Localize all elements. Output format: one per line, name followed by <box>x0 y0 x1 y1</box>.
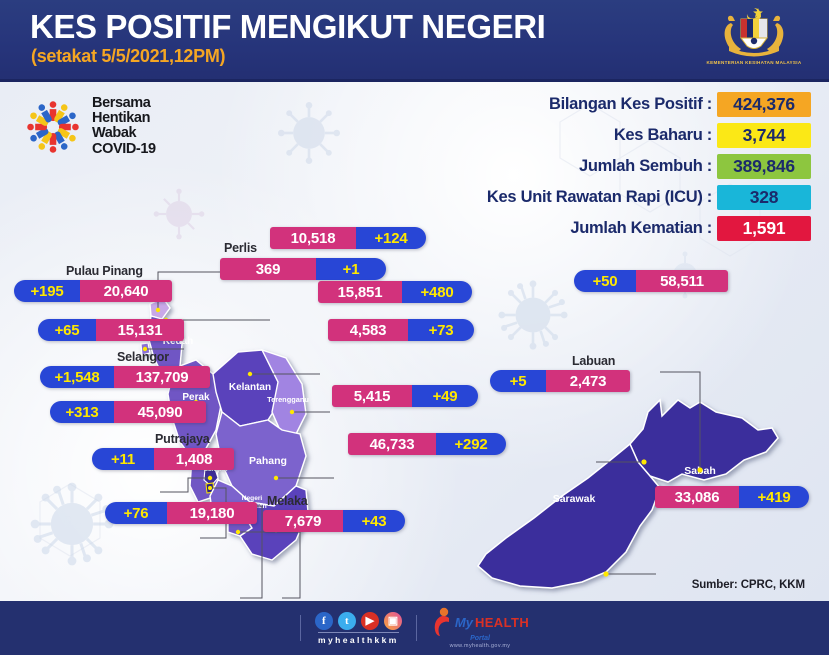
pill-delta-putrajaya: +11 <box>92 448 154 470</box>
pill-delta-pahang: +49 <box>412 385 478 407</box>
pill-pahang[interactable]: 5,415 +49 <box>332 385 478 407</box>
callout-name-perlis: Perlis <box>224 241 257 255</box>
infographic-canvas: KES POSITIF MENGIKUT NEGERI (setakat 5/5… <box>0 0 829 655</box>
callout-name-pulau-pinang: Pulau Pinang <box>66 264 143 278</box>
pill-delta-labuan: +5 <box>490 370 546 392</box>
pill-pulau-pinang[interactable]: +195 20,640 <box>14 280 172 302</box>
kkm-crest: KEMENTERIAN KESIHATAN MALAYSIA <box>701 5 807 79</box>
dot-putrajaya <box>208 486 212 490</box>
facebook-icon[interactable]: f <box>315 612 333 630</box>
dot-melaka <box>236 530 240 534</box>
myhealth-url: www.myhealth.gov.my <box>450 643 511 649</box>
pill-negeri-sembilan[interactable]: +76 19,180 <box>105 502 257 524</box>
pill-delta-negeri-sembilan: +76 <box>105 502 167 524</box>
callout-name-selangor: Selangor <box>117 350 169 364</box>
dot-kelantan <box>248 372 252 376</box>
infographic-body: Bersama Hentikan Wabak COVID-19 Bilangan… <box>0 82 829 601</box>
pill-count-negeri-sembilan: 19,180 <box>167 502 257 524</box>
pill-putrajaya[interactable]: +11 1,408 <box>92 448 234 470</box>
youtube-icon[interactable]: ▶ <box>361 612 379 630</box>
myhealth-health-text: HEALTH <box>475 615 529 630</box>
social-icons: f t ▶ ▣ <box>315 612 402 630</box>
map-label-pahang: Pahang <box>249 455 287 467</box>
dot-terengganu <box>290 410 294 414</box>
state-sarawak <box>478 444 660 588</box>
dot-pahang <box>274 476 278 480</box>
pill-count-kelantan: 15,851 <box>318 281 402 303</box>
pill-perak[interactable]: +65 15,131 <box>38 319 184 341</box>
source-note: Sumber: CPRC, KKM <box>692 579 805 591</box>
pill-delta-kuala-lumpur: +313 <box>50 401 114 423</box>
dot-sabah <box>697 467 702 472</box>
pill-kelantan[interactable]: 15,851 +480 <box>318 281 472 303</box>
pill-labuan[interactable]: +5 2,473 <box>490 370 630 392</box>
pill-kuala-lumpur[interactable]: +313 45,090 <box>50 401 206 423</box>
pill-melaka[interactable]: 7,679 +43 <box>263 510 405 532</box>
pill-count-johor: 46,733 <box>348 433 436 455</box>
pill-count-putrajaya: 1,408 <box>154 448 234 470</box>
pill-perlis[interactable]: 369 +1 <box>220 258 386 280</box>
pill-count-kuala-lumpur: 45,090 <box>114 401 206 423</box>
page-subtitle: (setakat 5/5/2021,12PM) <box>31 46 225 67</box>
pill-kedah[interactable]: 10,518 +124 <box>270 227 426 249</box>
map-label-terengganu: Terengganu <box>267 395 309 404</box>
pill-delta-johor: +292 <box>436 433 506 455</box>
pill-count-sabah: 58,511 <box>636 270 728 292</box>
pill-count-sarawak: 33,086 <box>655 486 739 508</box>
callout-name-melaka: Melaka <box>267 494 308 508</box>
pill-delta-sarawak: +419 <box>739 486 809 508</box>
pill-delta-kedah: +124 <box>356 227 426 249</box>
pill-count-pahang: 5,415 <box>332 385 412 407</box>
pill-delta-sabah: +50 <box>574 270 636 292</box>
pill-count-terengganu: 4,583 <box>328 319 408 341</box>
social-handle: myhealthkkm <box>318 632 399 645</box>
crest-caption: KEMENTERIAN KESIHATAN MALAYSIA <box>707 60 802 66</box>
pill-count-kedah: 10,518 <box>270 227 356 249</box>
instagram-icon[interactable]: ▣ <box>384 612 402 630</box>
pill-sarawak[interactable]: 33,086 +419 <box>655 486 809 508</box>
callout-name-putrajaya: Putrajaya <box>155 432 209 446</box>
pill-terengganu[interactable]: 4,583 +73 <box>328 319 474 341</box>
map-label-sarawak: Sarawak <box>553 493 596 505</box>
dot-labuan <box>641 459 646 464</box>
pill-delta-terengganu: +73 <box>408 319 474 341</box>
dot-kl <box>208 476 212 480</box>
pill-count-labuan: 2,473 <box>546 370 630 392</box>
pill-selangor[interactable]: +1,548 137,709 <box>40 366 210 388</box>
pill-sabah[interactable]: +50 58,511 <box>574 270 728 292</box>
pill-delta-selangor: +1,548 <box>40 366 114 388</box>
footer-divider-left <box>300 615 301 641</box>
pill-count-pulau-pinang: 20,640 <box>80 280 172 302</box>
pill-delta-kelantan: +480 <box>402 281 472 303</box>
pill-count-perlis: 369 <box>220 258 316 280</box>
malaysia-coat-of-arms-icon <box>717 5 791 59</box>
twitter-icon[interactable]: t <box>338 612 356 630</box>
pill-delta-pulau-pinang: +195 <box>14 280 80 302</box>
myhealth-sub-text: Portal <box>470 635 490 642</box>
pill-johor[interactable]: 46,733 +292 <box>348 433 506 455</box>
pill-delta-perlis: +1 <box>316 258 386 280</box>
header-bar: KES POSITIF MENGIKUT NEGERI (setakat 5/5… <box>0 0 829 82</box>
map-label-negeri-sembilan-1: Negeri <box>242 495 263 502</box>
map-label-kelantan: Kelantan <box>229 382 271 393</box>
myhealth-figure-icon <box>431 607 453 637</box>
myhealth-my-text: My <box>455 615 473 630</box>
callout-name-labuan: Labuan <box>572 354 615 368</box>
dot-perlis <box>156 308 160 312</box>
pill-delta-perak: +65 <box>38 319 96 341</box>
social-block: f t ▶ ▣ myhealthkkm <box>315 612 402 645</box>
pill-count-melaka: 7,679 <box>263 510 343 532</box>
page-title: KES POSITIF MENGIKUT NEGERI <box>30 8 545 46</box>
myhealth-logo[interactable]: My HEALTH Portal www.myhealth.gov.my <box>431 607 529 649</box>
pill-count-perak: 15,131 <box>96 319 184 341</box>
footer-bar: f t ▶ ▣ myhealthkkm My HEALTH Portal www… <box>0 601 829 655</box>
myhealth-wordmark: My HEALTH <box>431 607 529 637</box>
dot-sarawak <box>603 571 608 576</box>
pill-count-selangor: 137,709 <box>114 366 210 388</box>
footer-divider-right <box>416 615 417 641</box>
pill-delta-melaka: +43 <box>343 510 405 532</box>
